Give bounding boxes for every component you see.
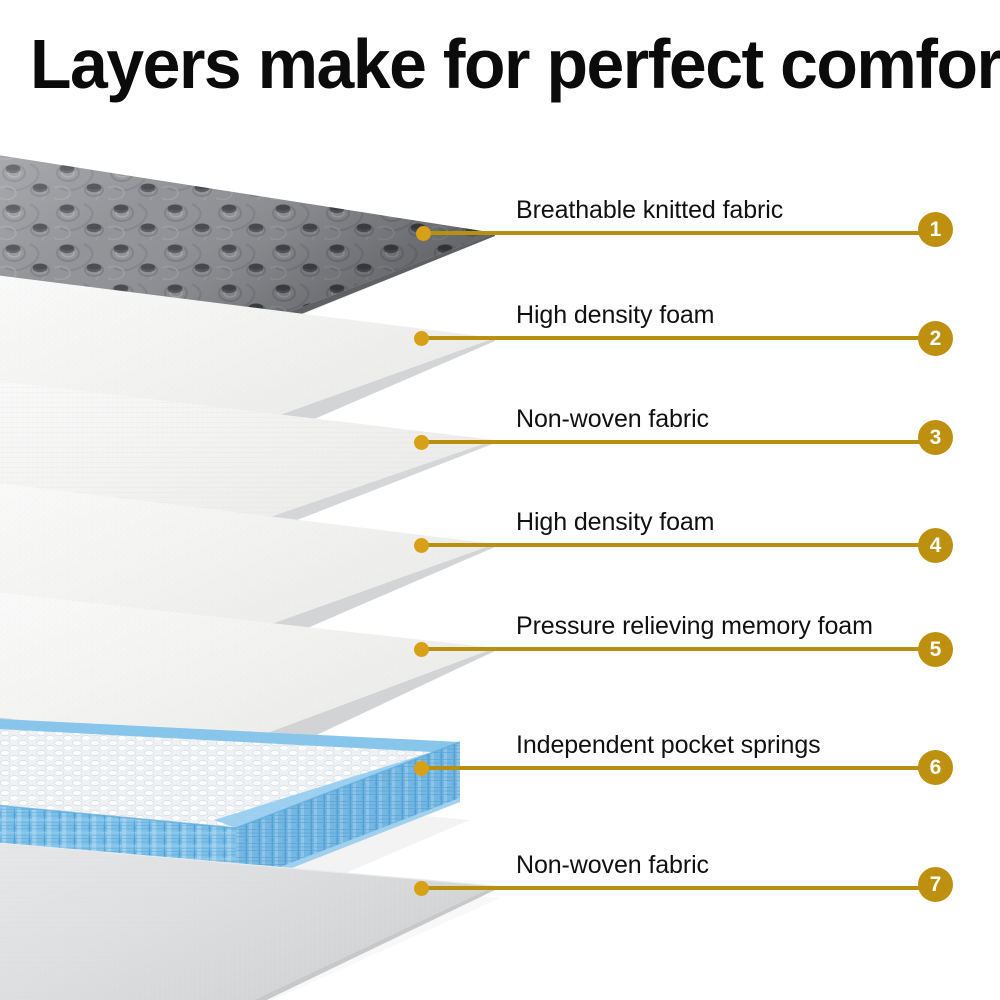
callout-badge-7[interactable]: 7 [918,867,953,902]
leader-dot-5 [414,642,429,657]
leader-line-7 [426,886,928,890]
callout-badge-4[interactable]: 4 [918,528,953,563]
leader-dot-6 [414,761,429,776]
leader-dot-7 [414,881,429,896]
callout-badge-1[interactable]: 1 [918,212,953,247]
callout-label-4: High density foam [516,508,714,537]
callout-label-5: Pressure relieving memory foam [516,612,873,641]
callout-label-1: Breathable knitted fabric [516,196,783,225]
leader-line-5 [426,647,928,651]
leader-dot-2 [414,331,429,346]
leader-dot-1 [416,226,431,241]
leader-line-1 [428,231,928,235]
leader-dot-3 [414,435,429,450]
callout-label-3: Non-woven fabric [516,405,709,434]
callout-badge-3[interactable]: 3 [918,420,953,455]
callout-label-6: Independent pocket springs [516,731,821,760]
leader-line-3 [426,440,928,444]
leader-line-2 [426,336,928,340]
leader-line-4 [426,543,928,547]
callout-badge-6[interactable]: 6 [918,750,953,785]
callout-badge-2[interactable]: 2 [918,321,953,356]
leader-dot-4 [414,538,429,553]
infographic-canvas: Layers make for perfect comfort [0,0,1000,1000]
callout-label-2: High density foam [516,301,714,330]
leader-line-6 [426,766,928,770]
callout-group: Breathable knitted fabric 1 High density… [0,0,1000,1000]
callout-label-7: Non-woven fabric [516,851,709,880]
callout-badge-5[interactable]: 5 [918,632,953,667]
